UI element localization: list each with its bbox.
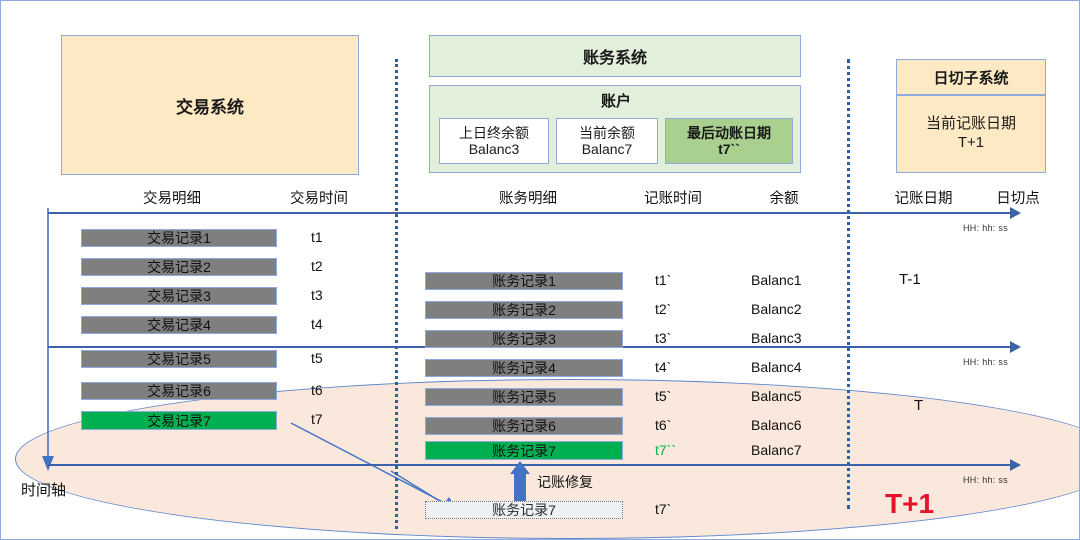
trade-record-row[interactable]: 交易记录3 <box>81 287 277 305</box>
timeline-tick-2: HH: hh: ss <box>963 357 1008 367</box>
account-record-time: t4` <box>655 359 671 375</box>
account-record-row-highlight[interactable]: 账务记录7 <box>425 441 623 460</box>
separator-trade-account <box>395 59 398 529</box>
cutoff-current-date-box[interactable]: 当前记账日期 T+1 <box>896 95 1046 173</box>
account-record-time: t5` <box>655 388 671 404</box>
header-cutoff-point: 日切点 <box>979 187 1057 208</box>
account-field-last-move-date-label: 最后动账日期 <box>687 125 771 141</box>
account-record-time: t3` <box>655 330 671 346</box>
header-booking-time: 记账时间 <box>623 187 723 208</box>
cutoff-system-box[interactable]: 日切子系统 <box>896 59 1046 95</box>
trade-record-row[interactable]: 交易记录6 <box>81 382 277 400</box>
account-record-name: 账务记录6 <box>492 416 556 436</box>
failed-account-record-name: 账务记录7 <box>492 500 556 520</box>
account-record-time: t1` <box>655 272 671 288</box>
trade-record-row-highlight[interactable]: 交易记录7 <box>81 411 277 430</box>
account-system-box[interactable]: 账务系统 <box>429 35 801 77</box>
trade-record-name: 交易记录5 <box>147 349 211 369</box>
trade-record-time: t1 <box>311 229 323 245</box>
cutoff-current-date-label: 当前记账日期 <box>926 115 1016 134</box>
account-record-name: 账务记录4 <box>492 358 556 378</box>
account-record-row[interactable]: 账务记录6 <box>425 417 623 435</box>
failed-account-record-row[interactable]: 账务记录7 <box>425 501 623 519</box>
trade-system-title: 交易系统 <box>176 93 244 118</box>
header-balance: 余额 <box>749 187 819 208</box>
repair-arrow-head <box>510 461 530 474</box>
timeline-axis-3 <box>48 464 1012 466</box>
account-field-prev-balance-value: Balanc3 <box>469 141 520 157</box>
trade-record-time: t2 <box>311 258 323 274</box>
period-label-t-plus-1: T+1 <box>885 488 934 520</box>
account-record-balance: Balanc2 <box>751 301 802 317</box>
account-field-prev-balance[interactable]: 上日终余额 Balanc3 <box>439 118 549 164</box>
account-record-row[interactable]: 账务记录3 <box>425 330 623 348</box>
trade-record-time: t4 <box>311 316 323 332</box>
header-booking-date: 记账日期 <box>881 187 966 208</box>
timeline-arrow-1 <box>1010 207 1021 219</box>
trade-system-box[interactable]: 交易系统 <box>61 35 359 175</box>
account-field-current-balance-value: Balanc7 <box>582 141 633 157</box>
account-record-name: 账务记录7 <box>492 441 556 461</box>
account-box[interactable]: 账户 上日终余额 Balanc3 当前余额 Balanc7 最后动账日期 t7`… <box>429 85 801 173</box>
time-axis-label: 时间轴 <box>21 479 66 500</box>
account-field-current-balance[interactable]: 当前余额 Balanc7 <box>556 118 658 164</box>
account-record-row[interactable]: 账务记录4 <box>425 359 623 377</box>
separator-account-cutoff <box>847 59 850 509</box>
account-record-balance: Balanc7 <box>751 442 802 458</box>
timeline-tick-1: HH: hh: ss <box>963 223 1008 233</box>
trade-record-time: t7 <box>311 411 323 427</box>
header-trade-time: 交易时间 <box>269 187 369 208</box>
account-record-balance: Balanc4 <box>751 359 802 375</box>
account-record-name: 账务记录1 <box>492 271 556 291</box>
trade-record-row[interactable]: 交易记录5 <box>81 350 277 368</box>
header-trade-detail: 交易明细 <box>113 187 231 208</box>
repair-label: 记账修复 <box>537 472 593 492</box>
account-record-name: 账务记录3 <box>492 329 556 349</box>
trade-record-time: t3 <box>311 287 323 303</box>
trade-record-name: 交易记录7 <box>147 411 211 431</box>
cutoff-system-title: 日切子系统 <box>933 67 1008 88</box>
account-record-balance: Balanc1 <box>751 272 802 288</box>
trade-record-row[interactable]: 交易记录1 <box>81 229 277 247</box>
account-record-time: t7`` <box>655 442 676 458</box>
account-field-last-move-date[interactable]: 最后动账日期 t7`` <box>665 118 793 164</box>
account-record-balance: Balanc6 <box>751 417 802 433</box>
cutoff-current-date-value: T+1 <box>958 134 984 153</box>
account-record-name: 账务记录5 <box>492 387 556 407</box>
trade-record-time: t5 <box>311 350 323 366</box>
diagram-canvas: 交易系统 账务系统 账户 上日终余额 Balanc3 当前余额 Balanc7 … <box>0 0 1080 540</box>
timeline-arrow-2 <box>1010 341 1021 353</box>
failed-account-record-time: t7` <box>655 501 671 517</box>
account-record-balance: Balanc3 <box>751 330 802 346</box>
account-system-title: 账务系统 <box>583 44 647 68</box>
timeline-axis-1 <box>48 212 1012 214</box>
trade-record-row[interactable]: 交易记录4 <box>81 316 277 334</box>
trade-record-name: 交易记录2 <box>147 257 211 277</box>
header-account-detail: 账务明细 <box>469 187 587 208</box>
account-record-row[interactable]: 账务记录2 <box>425 301 623 319</box>
account-record-row[interactable]: 账务记录1 <box>425 272 623 290</box>
timeline-arrow-3 <box>1010 459 1021 471</box>
trade-record-row[interactable]: 交易记录2 <box>81 258 277 276</box>
period-label-t: T <box>914 397 923 414</box>
account-record-name: 账务记录2 <box>492 300 556 320</box>
trade-record-time: t6 <box>311 382 323 398</box>
trade-record-name: 交易记录3 <box>147 286 211 306</box>
trade-record-name: 交易记录4 <box>147 315 211 335</box>
account-record-time: t6` <box>655 417 671 433</box>
account-field-prev-balance-label: 上日终余额 <box>459 125 529 141</box>
repair-arrow-shaft <box>514 473 526 501</box>
timeline-tick-3: HH: hh: ss <box>963 475 1008 485</box>
account-record-balance: Balanc5 <box>751 388 802 404</box>
account-record-row[interactable]: 账务记录5 <box>425 388 623 406</box>
period-label-t-minus-1: T-1 <box>899 271 921 288</box>
account-field-current-balance-label: 当前余额 <box>579 125 635 141</box>
trade-record-name: 交易记录6 <box>147 381 211 401</box>
account-box-title: 账户 <box>430 90 802 111</box>
account-field-last-move-date-value: t7`` <box>718 141 740 157</box>
trade-record-name: 交易记录1 <box>147 228 211 248</box>
account-record-time: t2` <box>655 301 671 317</box>
